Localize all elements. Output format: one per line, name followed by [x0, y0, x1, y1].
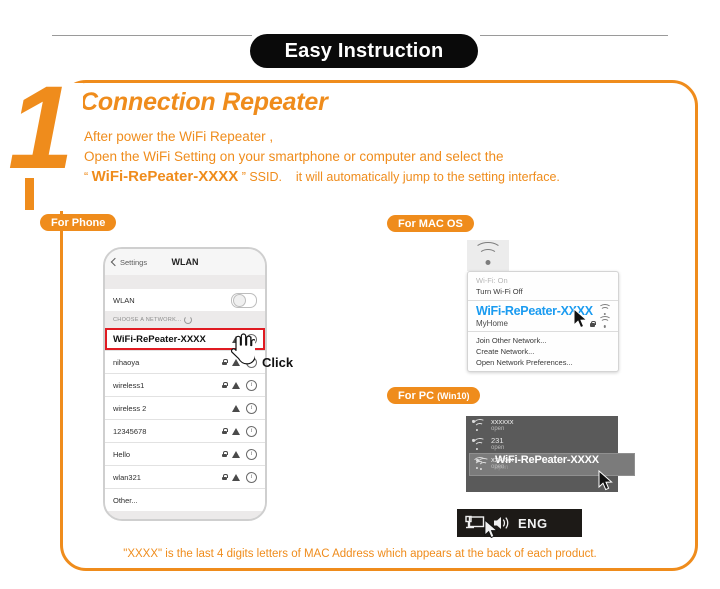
- network-monitor-icon[interactable]: [465, 515, 485, 532]
- badge-for-phone-label: For Phone: [51, 217, 105, 229]
- wlan-toggle-knob: [233, 294, 246, 307]
- badge-for-mac-label: For MAC OS: [398, 218, 463, 230]
- header-rule-right: [480, 35, 668, 36]
- phone-spacer-bottom: [105, 511, 265, 521]
- phone-spacer-top: [105, 275, 265, 289]
- badge-for-phone: For Phone: [40, 214, 116, 231]
- wifi-icon: [232, 428, 241, 435]
- ssid-name: WiFi-RePeater-XXXX: [92, 168, 239, 185]
- windows-network-text: 231open: [491, 437, 504, 452]
- windows-network-row[interactable]: xxxxxxopen: [466, 416, 618, 435]
- phone-mockup: Settings WLAN WLAN CHOOSE A NETWORK... W…: [103, 247, 267, 521]
- mac-wifi-menu: Wi-Fi: On Turn Wi-Fi Off WiFi-RePeater-X…: [467, 271, 619, 372]
- mouse-cursor-icon: [573, 308, 589, 329]
- mac-menu-item[interactable]: Join Other Network...: [468, 335, 618, 346]
- wifi-icon: [232, 405, 241, 412]
- network-row-selected-label: WiFi-RePeater-XXXX: [113, 334, 232, 345]
- lock-icon: [222, 428, 227, 434]
- network-row[interactable]: wireless 2i: [105, 396, 265, 419]
- lock-icon: [590, 321, 595, 327]
- step-line-3: “ WiFi-RePeater-XXXX ” SSID. it will aut…: [84, 167, 664, 187]
- windows-network-status: open: [491, 464, 514, 472]
- lock-icon: [222, 451, 227, 457]
- step-line-1: After power the WiFi Repeater ,: [84, 127, 664, 147]
- wifi-icon: [599, 320, 610, 328]
- network-row-icons: i: [222, 449, 257, 460]
- badge-for-pc-label: For PC: [398, 390, 434, 402]
- network-row[interactable]: wlan321i: [105, 465, 265, 488]
- wlan-toggle-label: WLAN: [113, 296, 231, 305]
- lock-icon: [222, 382, 227, 388]
- mac-menu-item[interactable]: Open Network Preferences...: [468, 357, 618, 368]
- windows-network-text: xxxxxxopen: [491, 456, 514, 471]
- footer-note: "XXXX" is the last 4 digits letters of M…: [0, 548, 720, 560]
- network-row[interactable]: Helloi: [105, 442, 265, 465]
- phone-network-list: nihaoyaiwireless1iwireless 2i12345678iHe…: [105, 350, 265, 511]
- header: Easy Instruction: [0, 14, 720, 58]
- badge-for-mac: For MAC OS: [387, 215, 474, 232]
- network-row-label: nihaoya: [113, 358, 222, 367]
- network-row-label: wireless 2: [113, 404, 232, 413]
- step-description: After power the WiFi Repeater , Open the…: [84, 127, 664, 187]
- instruction-sheet: Easy Instruction 1 Connection Repeater A…: [0, 0, 720, 589]
- phone-side-button: [103, 313, 104, 335]
- network-row[interactable]: wireless1i: [105, 373, 265, 396]
- badge-for-pc: For PC (Win10): [387, 387, 480, 404]
- windows-network-rows: xxxxxxopen231openWiFi-RePeater-XXXXopenx…: [466, 416, 618, 473]
- mac-action-list: Join Other Network...Create Network...Op…: [468, 335, 618, 368]
- mac-menu-item[interactable]: Create Network...: [468, 346, 618, 357]
- wifi-icon: [232, 451, 241, 458]
- mouse-cursor-icon: [598, 470, 614, 491]
- page-title: Easy Instruction: [285, 40, 444, 63]
- step-number-tail: [25, 178, 34, 210]
- step-title: Connection Repeater: [80, 88, 328, 117]
- wifi-icon: [472, 439, 485, 450]
- info-icon[interactable]: i: [246, 426, 257, 437]
- network-row-label: wireless1: [113, 381, 222, 390]
- mac-wifi-toggle[interactable]: Turn Wi-Fi Off: [468, 286, 618, 297]
- wifi-icon: [599, 307, 610, 315]
- windows-network-label: xxxxxx: [491, 418, 514, 426]
- windows-network-text: xxxxxxopen: [491, 418, 514, 433]
- info-icon[interactable]: i: [246, 380, 257, 391]
- network-row-icons: i: [222, 472, 257, 483]
- taskbar-language-label[interactable]: ENG: [518, 516, 548, 531]
- info-icon[interactable]: i: [246, 403, 257, 414]
- mac-menu-divider-1: [468, 300, 618, 301]
- page-title-pill: Easy Instruction: [250, 34, 478, 68]
- step-number: 1: [8, 78, 74, 178]
- network-row-label: wlan321: [113, 473, 222, 482]
- wifi-icon: [232, 382, 241, 389]
- network-row-label: Other...: [113, 496, 257, 505]
- wifi-icon: [475, 246, 501, 265]
- windows-taskbar: ENG: [457, 509, 582, 537]
- hand-pointer-icon: [229, 333, 255, 365]
- network-row-label: Hello: [113, 450, 222, 459]
- choose-network-header: CHOOSE A NETWORK...: [105, 311, 265, 328]
- wifi-icon: [472, 420, 485, 431]
- step-line-3-tail: ” SSID. it will automatically jump to th…: [238, 170, 560, 184]
- wlan-toggle-switch[interactable]: [231, 293, 257, 308]
- windows-network-label: xxxxxx: [491, 456, 514, 464]
- network-row-label: 12345678: [113, 427, 222, 436]
- network-row-icons: i: [232, 403, 257, 414]
- wifi-icon: [472, 458, 485, 469]
- choose-network-label: CHOOSE A NETWORK...: [113, 317, 181, 323]
- mouse-cursor-icon: [484, 519, 499, 539]
- windows-network-list: xxxxxxopen231openWiFi-RePeater-XXXXopenx…: [466, 416, 618, 492]
- windows-network-row[interactable]: xxxxxxopen: [466, 454, 618, 473]
- mac-wifi-status: Wi-Fi: On: [468, 275, 618, 286]
- windows-network-status: open: [491, 426, 514, 434]
- phone-navbar: Settings WLAN: [105, 249, 265, 275]
- header-rule-left: [52, 35, 252, 36]
- info-icon[interactable]: i: [246, 472, 257, 483]
- windows-network-label: 231: [491, 437, 504, 445]
- mac-network-icons: [590, 320, 610, 328]
- mac-menubar-wifi-button[interactable]: [467, 240, 509, 271]
- info-icon[interactable]: i: [246, 449, 257, 460]
- step-line-2: Open the WiFi Setting on your smartphone…: [84, 147, 664, 167]
- windows-network-row[interactable]: 231open: [466, 435, 618, 454]
- network-row[interactable]: 12345678i: [105, 419, 265, 442]
- network-row-icons: i: [222, 380, 257, 391]
- wifi-icon: [232, 474, 241, 481]
- network-row[interactable]: Other...: [105, 488, 265, 511]
- mac-network-selected-icons: [599, 307, 610, 315]
- quote-open: “: [84, 170, 92, 184]
- badge-for-pc-sublabel: (Win10): [437, 391, 469, 401]
- wlan-toggle-row[interactable]: WLAN: [105, 289, 265, 311]
- network-row-icons: i: [222, 426, 257, 437]
- click-label: Click: [262, 355, 293, 370]
- loading-spinner-icon: [184, 316, 192, 324]
- phone-nav-title: WLAN: [105, 257, 265, 267]
- windows-network-status: open: [491, 445, 504, 453]
- mac-menu-divider-2: [468, 331, 618, 332]
- lock-icon: [222, 359, 227, 365]
- lock-icon: [222, 474, 227, 480]
- mac-network-row-selected[interactable]: WiFi-RePeater-XXXX: [468, 304, 618, 318]
- mac-network-row[interactable]: MyHome: [468, 318, 618, 328]
